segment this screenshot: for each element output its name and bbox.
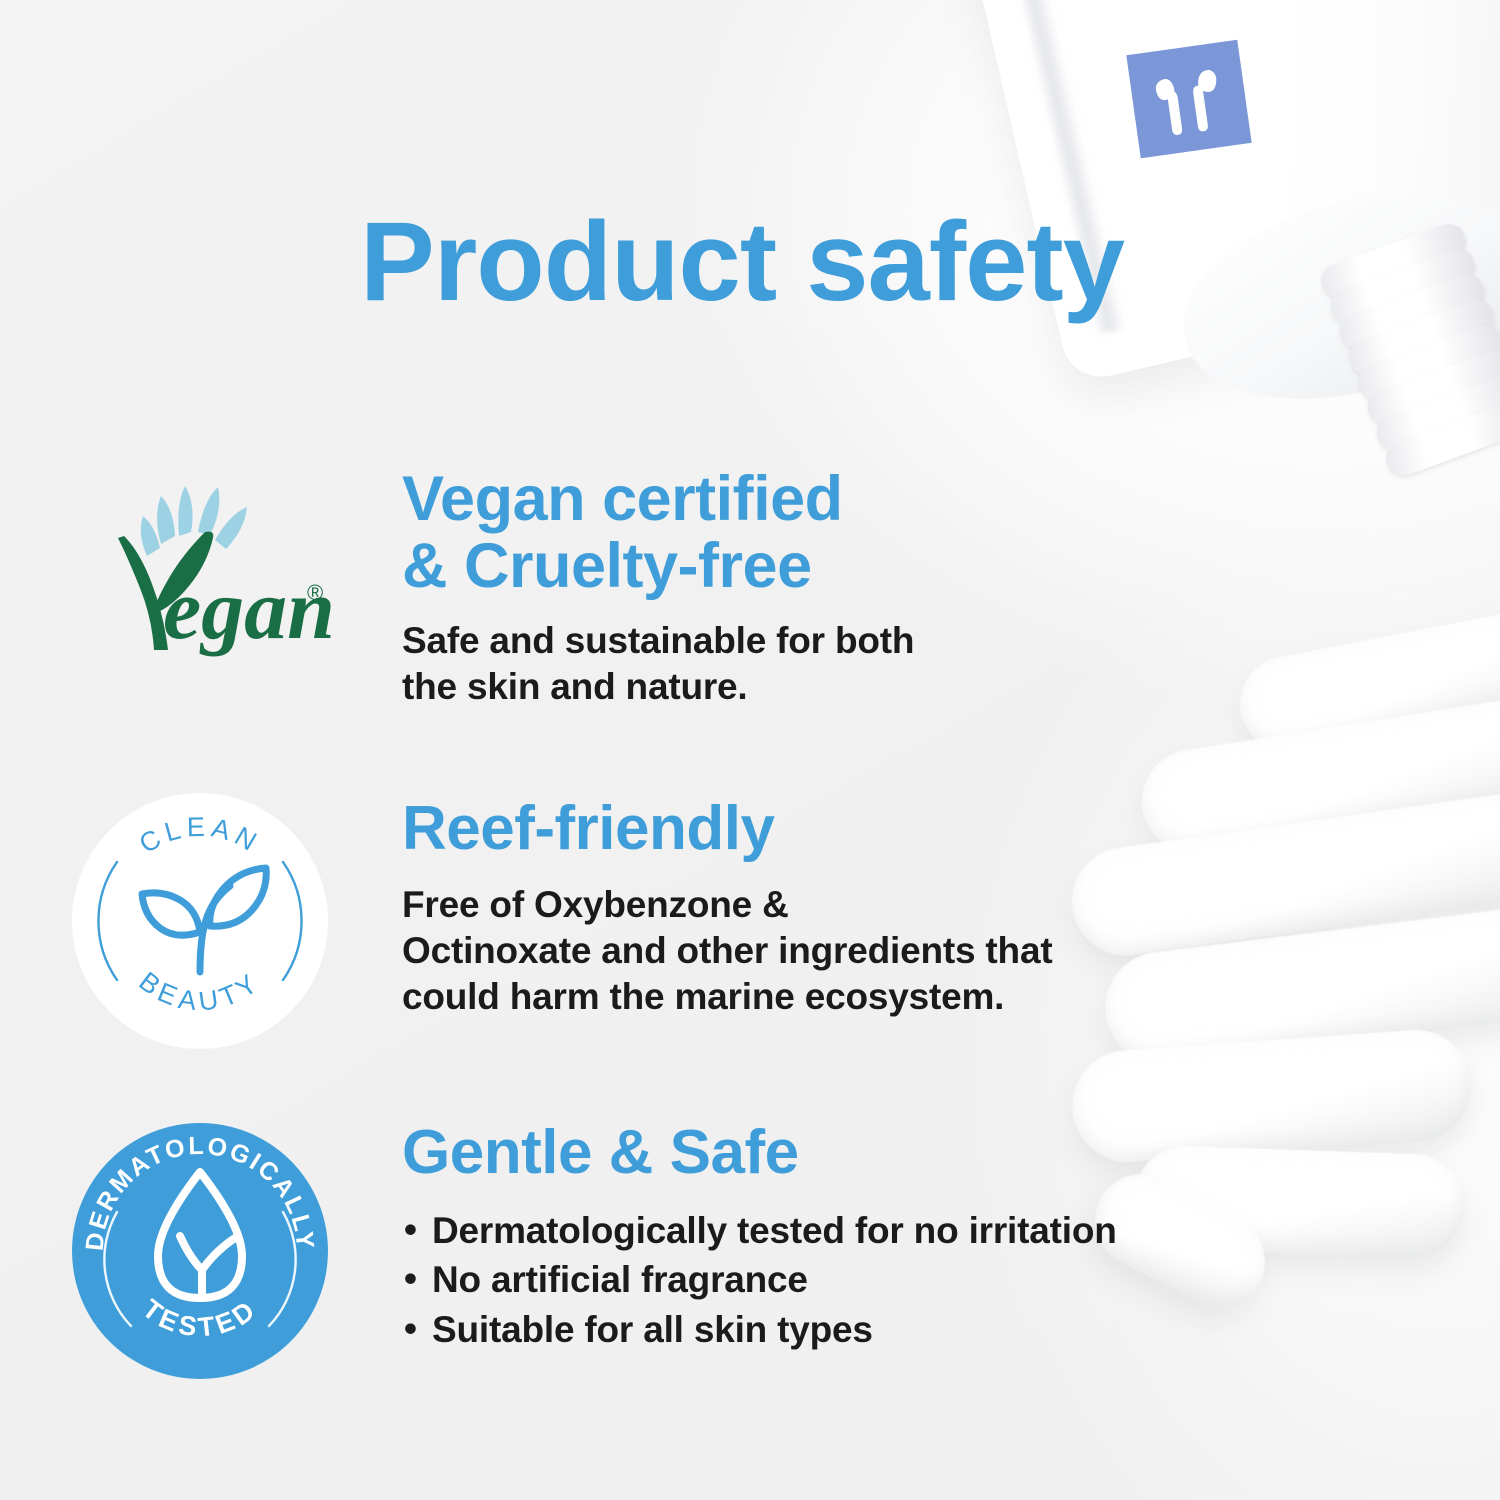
feature-heading-gentle-safe: Gentle & Safe: [402, 1120, 1230, 1186]
body-line: Safe and sustainable for both: [402, 620, 914, 661]
page-title: Product safety: [360, 206, 1124, 318]
product-safety-infographic: Product safety: [0, 0, 1500, 1500]
badge-column: CLEAN BEAUTY: [0, 782, 400, 1052]
bullet-item: No artificial fragrance: [402, 1255, 1230, 1305]
heading-line: & Cruelty-free: [402, 531, 812, 601]
feature-item-vegan: egan ® Vegan certified & Cruelty-free Sa…: [0, 452, 1230, 782]
badge-column: egan ®: [0, 452, 400, 670]
text-column: Gentle & Safe Dermatologically tested fo…: [400, 1112, 1230, 1354]
vegan-certified-badge: egan ®: [55, 460, 345, 670]
feature-body-vegan: Safe and sustainable for both the skin a…: [402, 618, 1230, 711]
dermatologically-tested-badge: DERMATOLOGICALLY TESTED: [69, 1120, 331, 1382]
sprout-logomark: [1126, 40, 1251, 159]
heading-line: Reef-friendly: [402, 794, 774, 863]
tube-shoulder: [1163, 162, 1500, 428]
text-column: Vegan certified & Cruelty-free Safe and …: [400, 452, 1230, 710]
feature-heading-vegan: Vegan certified & Cruelty-free: [402, 466, 1230, 600]
vegan-wordmark: egan: [163, 561, 335, 657]
feature-item-reef-friendly: CLEAN BEAUTY Reef-friendly Free of Oxybe…: [0, 782, 1230, 1112]
bullet-item: Dermatologically tested for no irritatio…: [402, 1206, 1230, 1256]
heading-line: Vegan certified: [402, 464, 843, 534]
heading-line: Gentle & Safe: [402, 1118, 799, 1187]
registered-symbol: ®: [307, 580, 323, 605]
feature-body-reef-friendly: Free of Oxybenzone & Octinoxate and othe…: [402, 882, 1230, 1021]
cream-stroke: [1232, 603, 1500, 760]
feature-heading-reef-friendly: Reef-friendly: [402, 796, 1230, 862]
gentle-safe-bullet-list: Dermatologically tested for no irritatio…: [402, 1206, 1230, 1355]
body-line: Octinoxate and other ingredients that: [402, 930, 1052, 971]
body-line: the skin and nature.: [402, 666, 748, 707]
clean-beauty-badge: CLEAN BEAUTY: [69, 790, 331, 1052]
product-tube: [923, 0, 1500, 385]
body-line: could harm the marine ecosystem.: [402, 976, 1004, 1017]
feature-item-gentle-safe: DERMATOLOGICALLY TESTED Gentle & Safe De…: [0, 1112, 1230, 1412]
text-column: Reef-friendly Free of Oxybenzone & Octin…: [400, 782, 1230, 1020]
bullet-item: Suitable for all skin types: [402, 1305, 1230, 1355]
product-cap: [1317, 219, 1500, 486]
feature-list: egan ® Vegan certified & Cruelty-free Sa…: [0, 452, 1230, 1412]
body-line: Free of Oxybenzone &: [402, 884, 789, 925]
badge-column: DERMATOLOGICALLY TESTED: [0, 1112, 400, 1382]
